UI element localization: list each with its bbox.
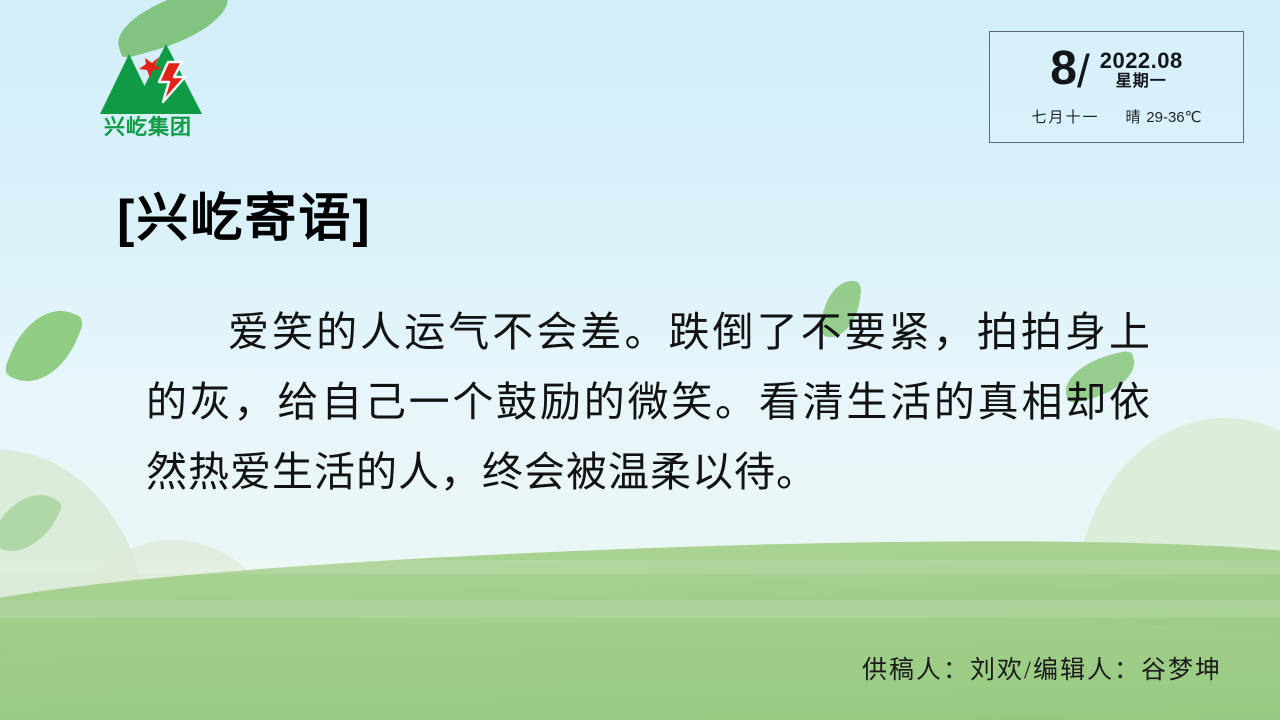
mountain-star-bolt-logo-icon <box>90 32 206 124</box>
brand-logo: 兴屹集团 <box>90 32 206 142</box>
body-text: 爱笑的人运气不会差。跌倒了不要紧，拍拍身上的灰，给自己一个鼓励的微笑。看清生活的… <box>146 297 1151 507</box>
date-weather: 晴 29-36℃ <box>1126 106 1202 127</box>
date-card-secondary-row: 七月十一 晴 29-36℃ <box>990 102 1243 127</box>
poster-canvas: 兴屹集团 8 / 2022.08 星期一 七月十一 晴 29-36℃ [兴屹寄语… <box>0 0 1280 720</box>
weather-temperature: 29-36℃ <box>1146 109 1201 126</box>
date-card-primary-row: 8 / 2022.08 星期一 <box>990 32 1243 102</box>
date-slash: / <box>1077 48 1090 94</box>
leaf-icon-left-upper <box>3 297 86 394</box>
date-day: 8 <box>1050 45 1076 93</box>
date-weekday: 星期一 <box>1116 72 1167 91</box>
page-title: [兴屹寄语] <box>117 193 372 245</box>
date-year-month: 2022.08 <box>1100 49 1183 72</box>
brand-logo-text: 兴屹集团 <box>90 117 206 138</box>
date-card: 8 / 2022.08 星期一 七月十一 晴 29-36℃ <box>989 31 1244 143</box>
weather-condition: 晴 <box>1126 110 1142 126</box>
date-lunar: 七月十一 <box>1032 106 1100 127</box>
credit-line: 供稿人：刘欢/编辑人：谷梦坤 <box>862 650 1222 686</box>
date-card-right-col: 2022.08 星期一 <box>1100 49 1183 91</box>
